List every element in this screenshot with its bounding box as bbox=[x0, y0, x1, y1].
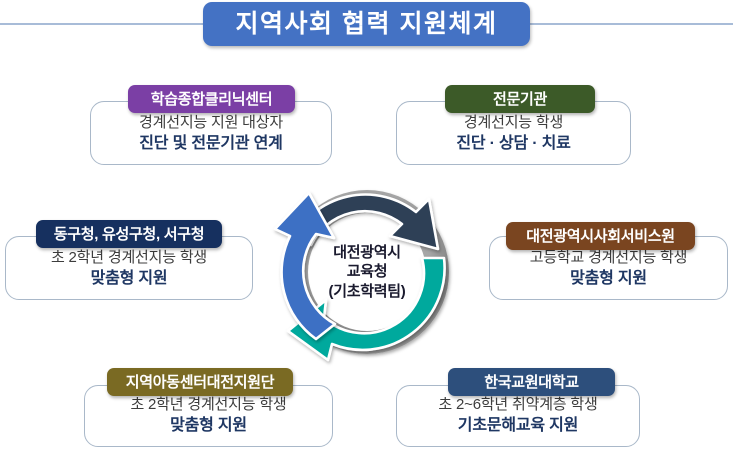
card-clinic-line1: 경계선지능 지원 대상자 bbox=[139, 113, 283, 133]
card-gu-offices-line2: 맞춤형 지원 bbox=[91, 268, 168, 290]
card-child-center-header-label: 지역아동센터대전지원단 bbox=[126, 375, 275, 390]
card-social-service-header-label: 대전광역시사회서비스원 bbox=[526, 229, 675, 244]
card-expert-line1: 경계선지능 학생 bbox=[464, 113, 563, 133]
card-expert-header: 전문기관 bbox=[445, 85, 595, 113]
card-child-center-line2: 맞춤형 지원 bbox=[170, 415, 247, 437]
card-social-service-line1: 고등학교 경계선지능 학생 bbox=[530, 248, 688, 268]
card-university-line2: 기초문해교육 지원 bbox=[458, 415, 578, 437]
card-university-header: 한국교원대학교 bbox=[448, 368, 615, 396]
hub-svg bbox=[266, 176, 468, 368]
card-gu-offices-line1: 초 2학년 경계선지능 학생 bbox=[51, 248, 207, 268]
diagram-canvas: 지역사회 협력 지원체계 bbox=[0, 0, 733, 452]
card-child-center-header: 지역아동센터대전지원단 bbox=[107, 368, 293, 396]
card-gu-offices-header-label: 동구청, 유성구청, 서구청 bbox=[54, 227, 204, 242]
card-university-header-label: 한국교원대학교 bbox=[484, 375, 579, 390]
card-expert-header-label: 전문기관 bbox=[493, 92, 547, 107]
card-social-service-header: 대전광역시사회서비스원 bbox=[506, 222, 695, 250]
diagram-title-banner: 지역사회 협력 지원체계 bbox=[203, 2, 530, 46]
card-gu-offices-header: 동구청, 유성구청, 서구청 bbox=[36, 220, 222, 248]
card-clinic-header-label: 학습종합클리닉센터 bbox=[151, 92, 273, 107]
card-clinic-line2: 진단 및 전문기관 연계 bbox=[139, 133, 282, 155]
center-hub: 대전광역시 교육청 (기초학력팀) bbox=[266, 176, 468, 368]
card-university-line1: 초 2~6학년 취약계층 학생 bbox=[438, 395, 597, 415]
card-child-center-line1: 초 2학년 경계선지능 학생 bbox=[130, 395, 286, 415]
title-rule-left bbox=[0, 23, 210, 25]
title-rule-right bbox=[523, 23, 733, 25]
diagram-title-text: 지역사회 협력 지원체계 bbox=[236, 12, 498, 37]
card-expert-line2: 진단 · 상담 · 치료 bbox=[456, 133, 570, 155]
card-clinic-header: 학습종합클리닉센터 bbox=[128, 85, 295, 113]
card-social-service-line2: 맞춤형 지원 bbox=[570, 268, 647, 290]
